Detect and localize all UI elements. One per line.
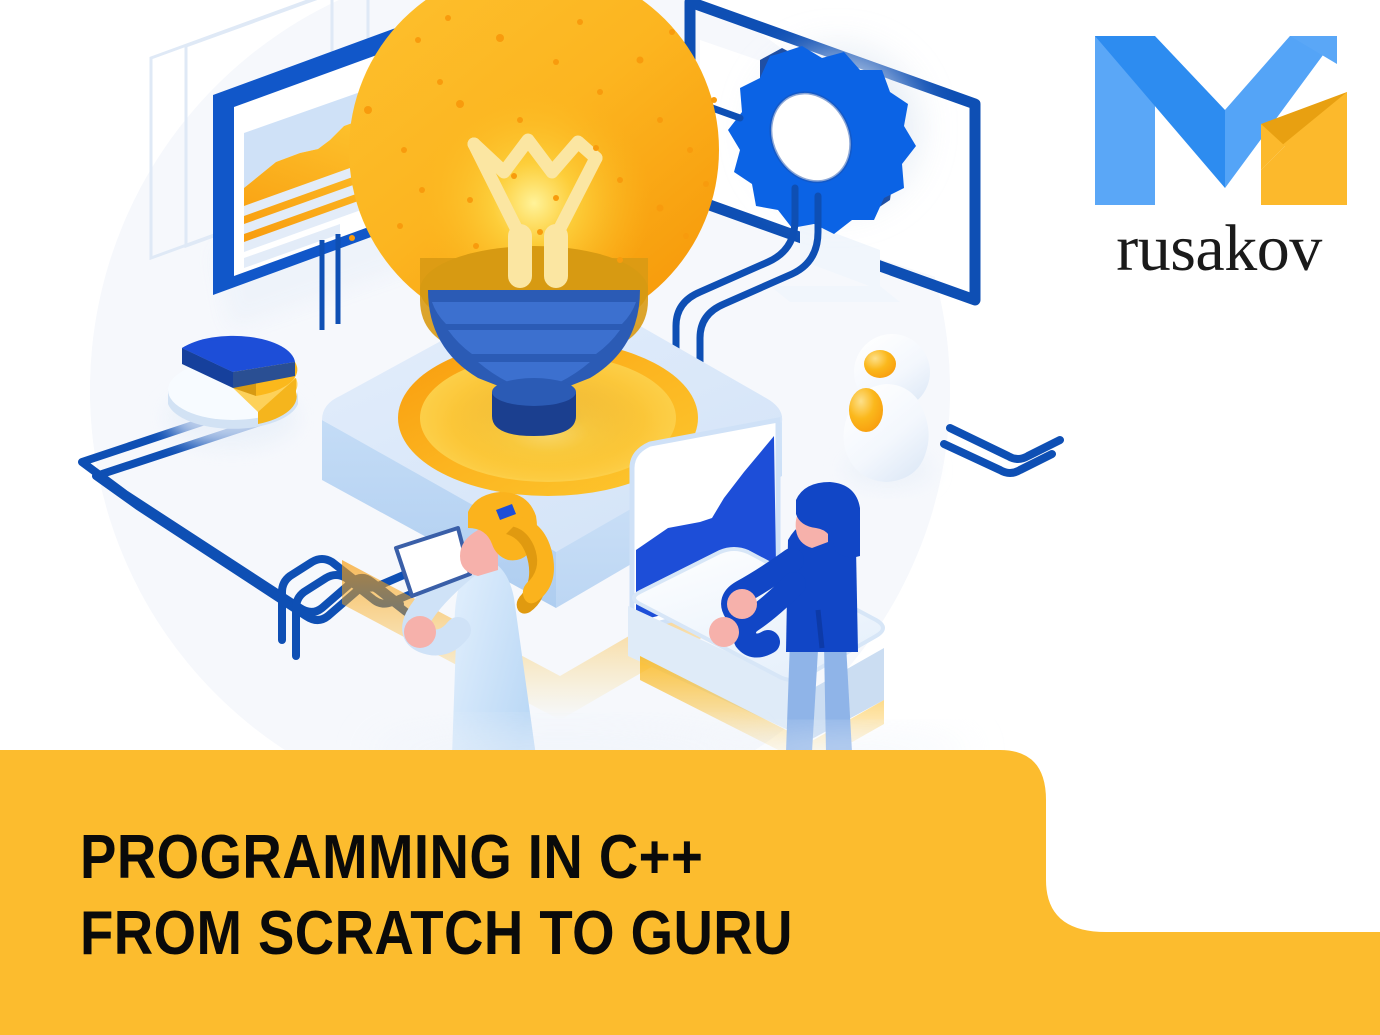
brand-logo[interactable]: rusakov xyxy=(1085,28,1353,283)
course-title: PROGRAMMING IN C++ FROM SCRATCH TO GURU xyxy=(80,820,925,972)
poster-canvas: PROGRAMMING IN C++ FROM SCRATCH TO GURU xyxy=(0,0,1380,1035)
logo-m-icon xyxy=(1085,28,1353,213)
course-title-line-1: PROGRAMMING IN C++ xyxy=(80,820,925,896)
pie-chart-3d xyxy=(166,336,298,448)
light-beams xyxy=(372,0,706,240)
logo-wordmark: rusakov xyxy=(1085,214,1353,284)
course-title-line-2: FROM SCRATCH TO GURU xyxy=(80,896,925,972)
